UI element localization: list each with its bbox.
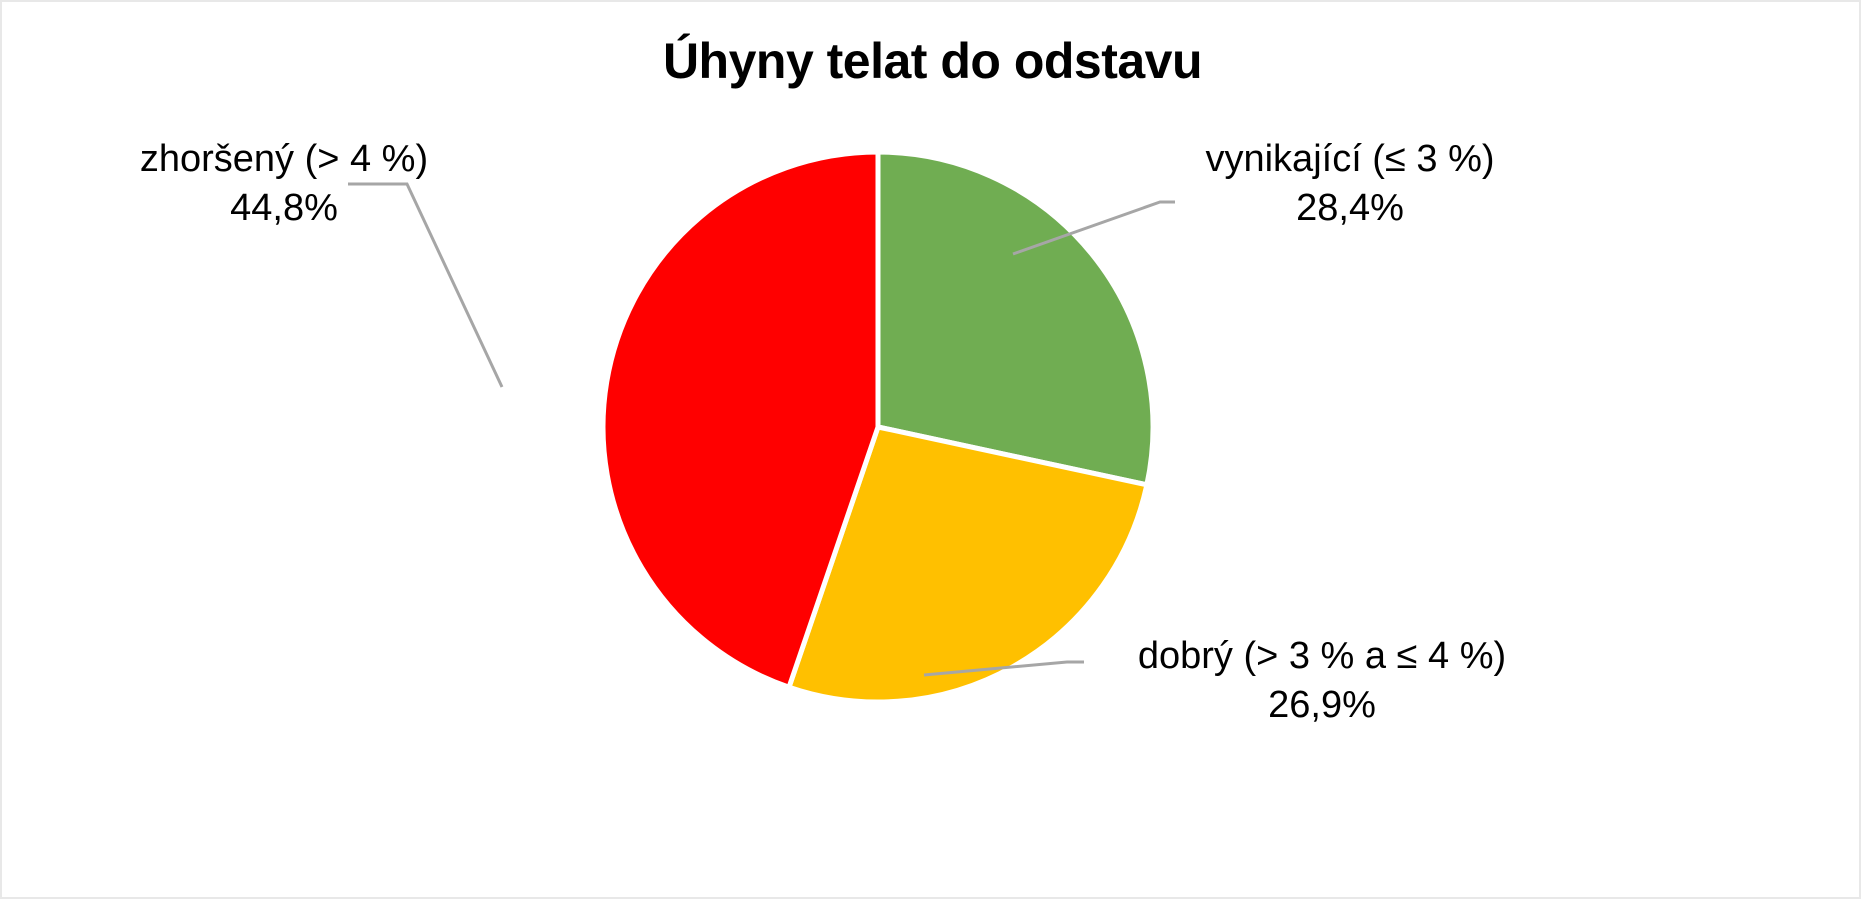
pie-chart — [598, 147, 1158, 707]
pie-label-dobry-name: dobrý (> 3 % a ≤ 4 %) — [1062, 632, 1582, 681]
chart-canvas: Úhyny telat do odstavu zhoršený (> 4 %) … — [0, 0, 1861, 899]
pie-label-vynikajici-name: vynikající (≤ 3 %) — [1150, 135, 1550, 184]
pie-label-dobry-value: 26,9% — [1062, 681, 1582, 730]
chart-title: Úhyny telat do odstavu — [2, 32, 1861, 90]
pie-label-zhorseny-value: 44,8% — [84, 184, 484, 233]
pie-svg — [598, 147, 1158, 707]
pie-label-dobry[interactable]: dobrý (> 3 % a ≤ 4 %) 26,9% — [1062, 632, 1582, 729]
pie-label-vynikajici-value: 28,4% — [1150, 184, 1550, 233]
pie-label-zhorseny[interactable]: zhoršený (> 4 %) 44,8% — [84, 135, 484, 232]
pie-label-vynikajici[interactable]: vynikající (≤ 3 %) 28,4% — [1150, 135, 1550, 232]
pie-label-zhorseny-name: zhoršený (> 4 %) — [84, 135, 484, 184]
